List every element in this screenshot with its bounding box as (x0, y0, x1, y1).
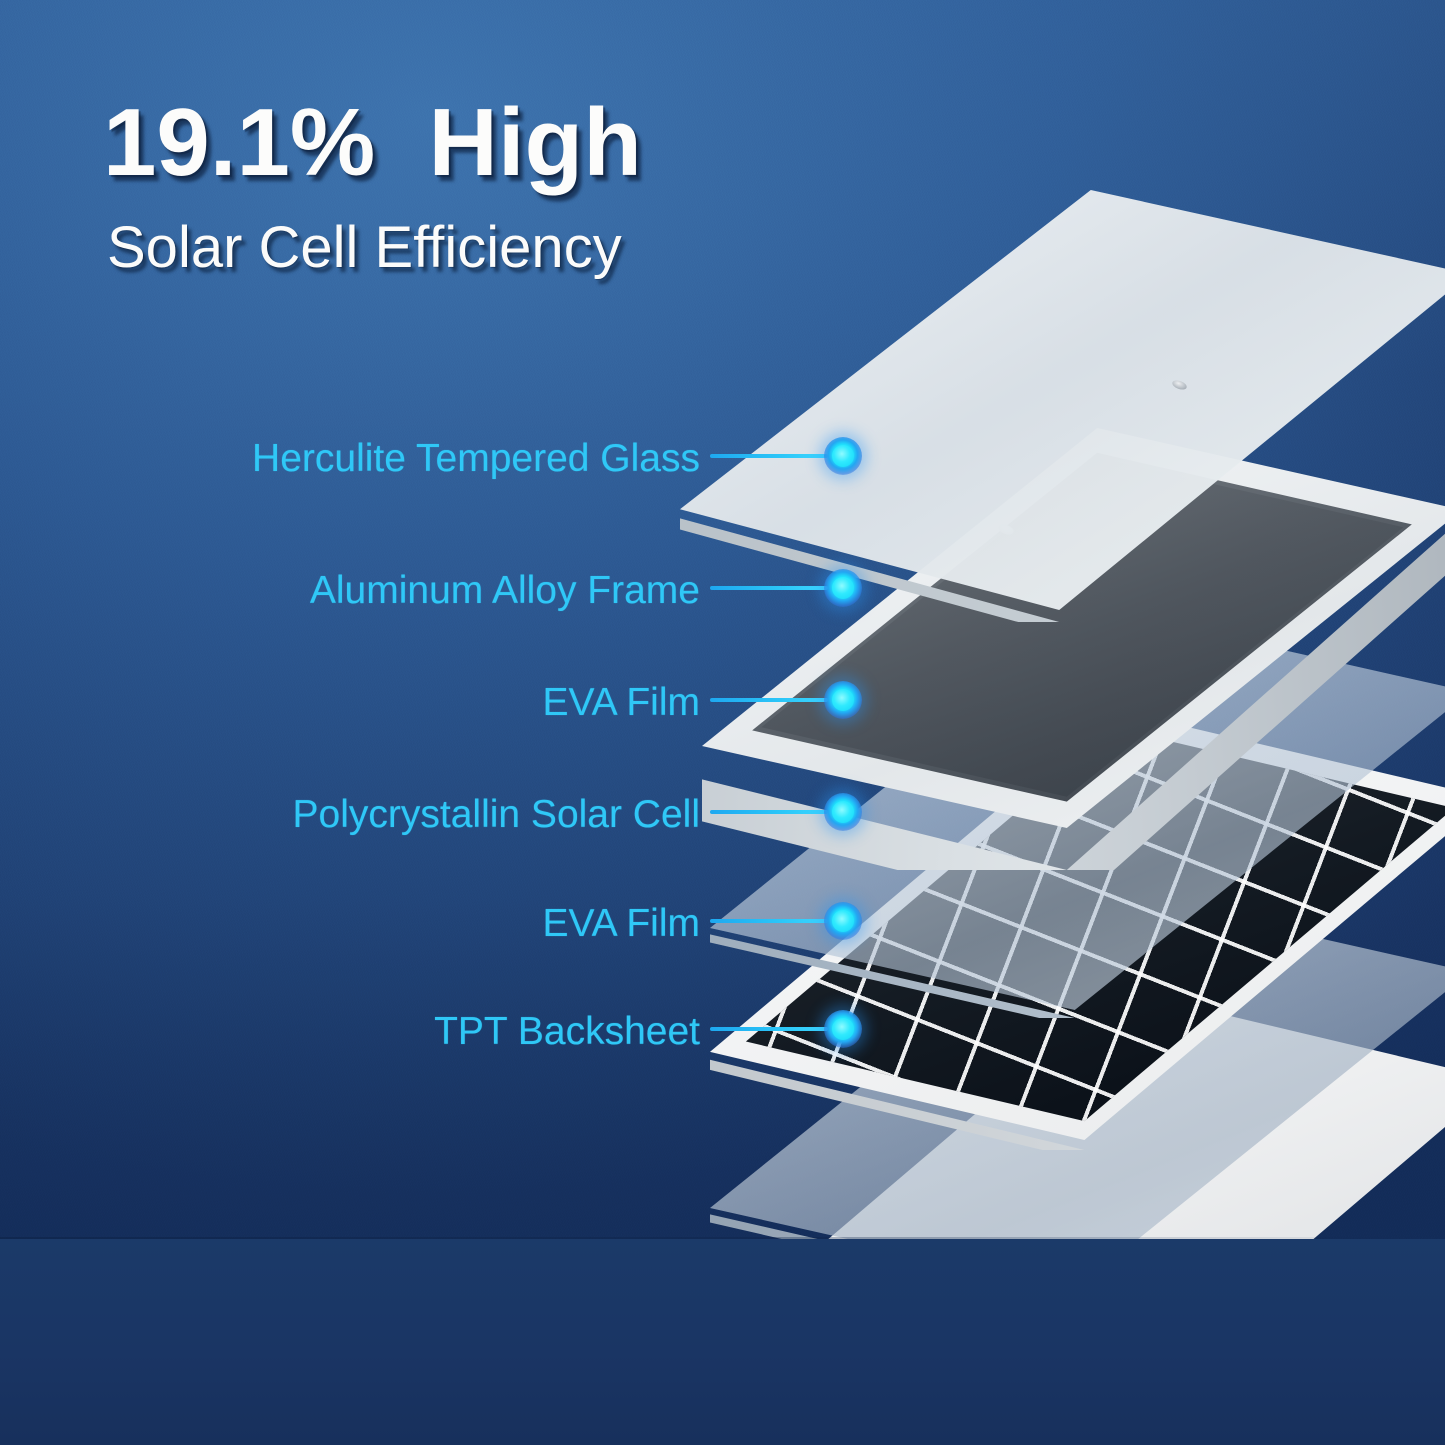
callout-dot-icon[interactable] (824, 902, 862, 940)
callout-label: Polycrystallin Solar Cell (293, 795, 700, 834)
callout-connector-line (710, 810, 828, 814)
callout-aluminum-alloy-frame[interactable]: Aluminum Alloy Frame (0, 568, 700, 608)
exploded-panel-illustration (680, 150, 1445, 1330)
callout-connector-line (710, 454, 828, 458)
page-subtitle: Solar Cell Efficiency (107, 219, 622, 277)
callout-label: EVA Film (543, 904, 700, 943)
page-title: 19.1% High (103, 95, 642, 191)
callout-polycrystallin-solar-cell[interactable]: Polycrystallin Solar Cell (0, 792, 700, 832)
callout-label: EVA Film (543, 683, 700, 722)
callout-dot-icon[interactable] (824, 569, 862, 607)
callout-connector-line (710, 698, 828, 702)
callout-eva-film-top[interactable]: EVA Film (0, 680, 700, 720)
callout-herculite-tempered-glass[interactable]: Herculite Tempered Glass (0, 436, 700, 476)
callout-label: Herculite Tempered Glass (252, 439, 700, 478)
callout-connector-line (710, 919, 828, 923)
bottom-band (0, 1239, 1445, 1445)
callout-connector-line (710, 586, 828, 590)
callout-dot-icon[interactable] (824, 793, 862, 831)
callout-eva-film-bottom[interactable]: EVA Film (0, 901, 700, 941)
bottom-band-divider (0, 1237, 1445, 1239)
callout-label: Aluminum Alloy Frame (310, 571, 700, 610)
headline-block: 19.1% High (103, 95, 642, 191)
callout-dot-icon[interactable] (824, 437, 862, 475)
solar-panel-infographic: 19.1% High Solar Cell Efficiency Herculi… (0, 0, 1445, 1445)
callout-dot-icon[interactable] (824, 1010, 862, 1048)
callout-tpt-backsheet[interactable]: TPT Backsheet (0, 1009, 700, 1049)
callout-connector-line (710, 1027, 828, 1031)
callout-label: TPT Backsheet (434, 1012, 700, 1051)
callout-dot-icon[interactable] (824, 681, 862, 719)
